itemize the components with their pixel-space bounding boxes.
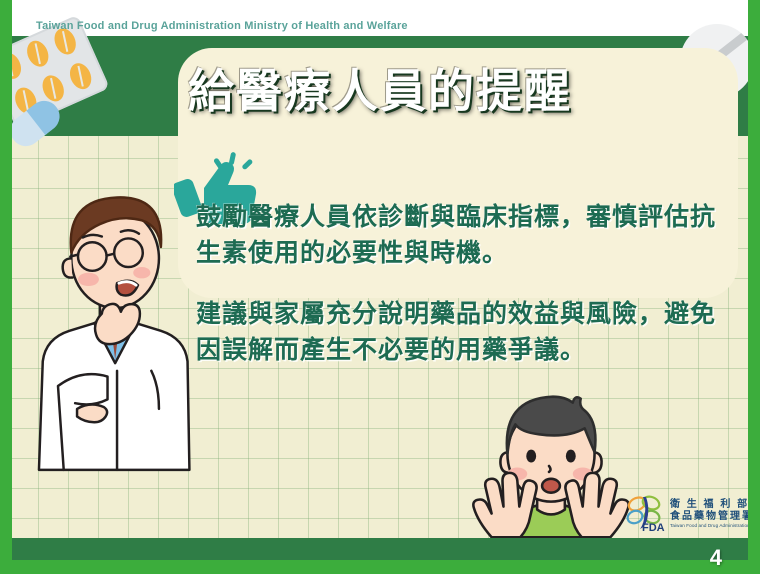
fda-logo-text: 衛 生 福 利 部 食品藥物管理署 Taiwan Food and Drug A…	[670, 500, 754, 529]
statement-item: 建議與家屬充分說明藥品的效益與風險，避免因誤解而產生不必要的用藥爭議。	[196, 297, 736, 368]
fda-logo-english: Taiwan Food and Drug Administration	[670, 524, 754, 529]
fda-butterfly-icon: FDA	[626, 495, 668, 533]
frame-border-left	[0, 0, 12, 574]
page-title: 給醫療人員的提醒	[0, 55, 760, 121]
frame-border-bottom	[0, 560, 760, 574]
boy-illustration	[452, 388, 650, 543]
fda-logo: FDA 衛 生 福 利 部 食品藥物管理署 Taiwan Food and Dr…	[626, 494, 744, 534]
svg-text:FDA: FDA	[642, 522, 665, 533]
statement-item: 鼓勵醫療人員依診斷與臨床指標，審慎評估抗生素使用的必要性與時機。	[196, 200, 736, 271]
organization-name: Taiwan Food and Drug Administration Mini…	[36, 20, 408, 32]
fda-logo-line1: 衛 生 福 利 部	[670, 500, 754, 510]
page-number: 4	[710, 545, 722, 571]
fda-logo-line2: 食品藥物管理署	[670, 512, 754, 522]
statement-list: 鼓勵醫療人員依診斷與臨床指標，審慎評估抗生素使用的必要性與時機。 建議與家屬充分…	[196, 200, 736, 368]
slide-canvas: Taiwan Food and Drug Administration Mini…	[0, 0, 760, 574]
frame-border-right	[748, 0, 760, 574]
